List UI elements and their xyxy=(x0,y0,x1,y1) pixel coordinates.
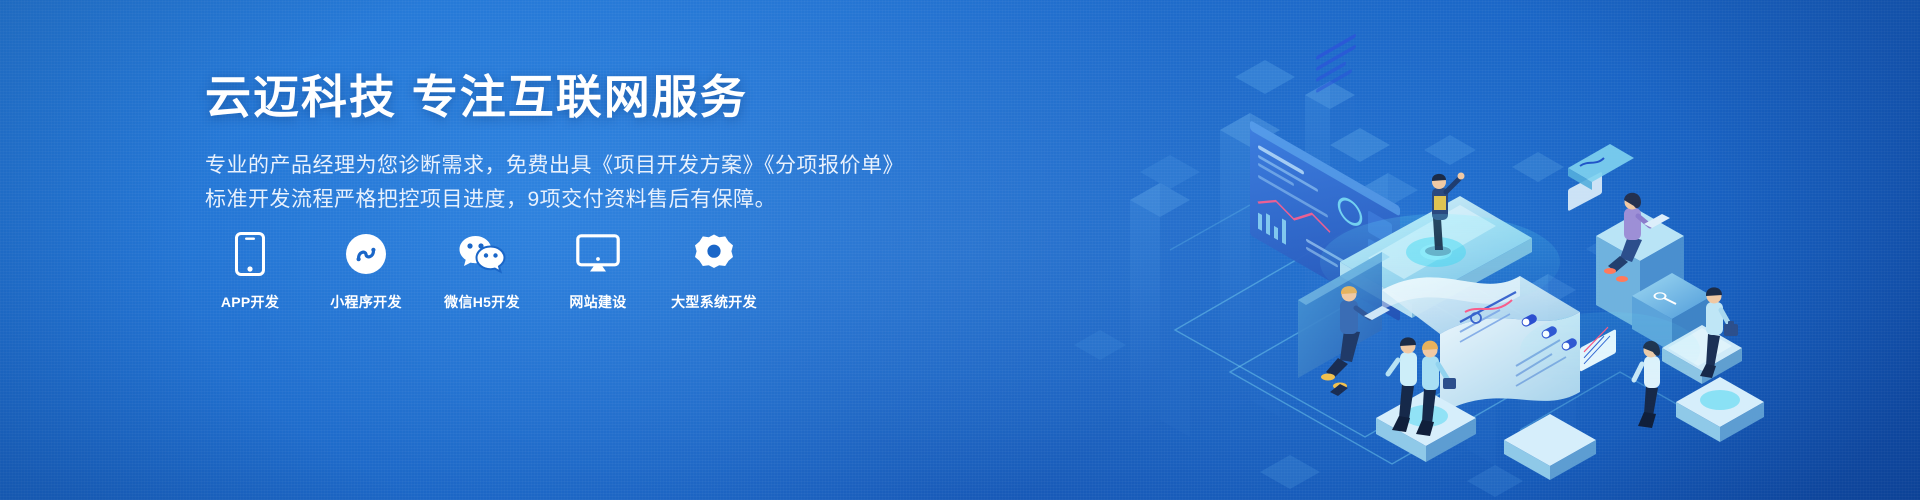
service-label-large-system: 大型系统开发 xyxy=(671,292,757,312)
service-label-app: APP开发 xyxy=(221,292,279,312)
platform-bottom-right xyxy=(1676,377,1764,442)
subtitle-line-1: 专业的产品经理为您诊断需求，免费出具《项目开发方案》《分项报价单》 xyxy=(205,149,905,183)
service-label-website: 网站建设 xyxy=(569,292,626,312)
platform-bottom-center xyxy=(1504,414,1596,480)
banner-copy: 云迈科技 专注互联网服务 专业的产品经理为您诊断需求，免费出具《项目开发方案》《… xyxy=(205,72,905,217)
gear-icon xyxy=(693,232,735,276)
service-label-mini-program: 小程序开发 xyxy=(330,292,402,312)
service-item-app[interactable]: APP开发 xyxy=(207,232,293,312)
service-item-large-system[interactable]: 大型系统开发 xyxy=(671,232,757,312)
monitor-icon xyxy=(576,232,620,276)
service-item-wechat-h5[interactable]: 微信H5开发 xyxy=(439,232,525,312)
subtitle-line-2: 标准开发流程严格把控项目进度，9项交付资料售后有保障。 xyxy=(205,183,905,217)
service-label-wechat-h5: 微信H5开发 xyxy=(444,292,520,312)
service-icon-row: APP开发 小程序开发 xyxy=(207,232,757,312)
wechat-icon xyxy=(458,232,506,276)
service-item-mini-program[interactable]: 小程序开发 xyxy=(323,232,409,312)
service-item-website[interactable]: 网站建设 xyxy=(555,232,641,312)
mobile-phone-icon xyxy=(235,232,265,276)
mini-program-icon xyxy=(345,232,387,276)
page-title: 云迈科技 专注互联网服务 xyxy=(205,72,905,123)
isometric-illustration xyxy=(920,0,1920,500)
hero-banner: 云迈科技 专注互联网服务 专业的产品经理为您诊断需求，免费出具《项目开发方案》《… xyxy=(0,0,1920,500)
